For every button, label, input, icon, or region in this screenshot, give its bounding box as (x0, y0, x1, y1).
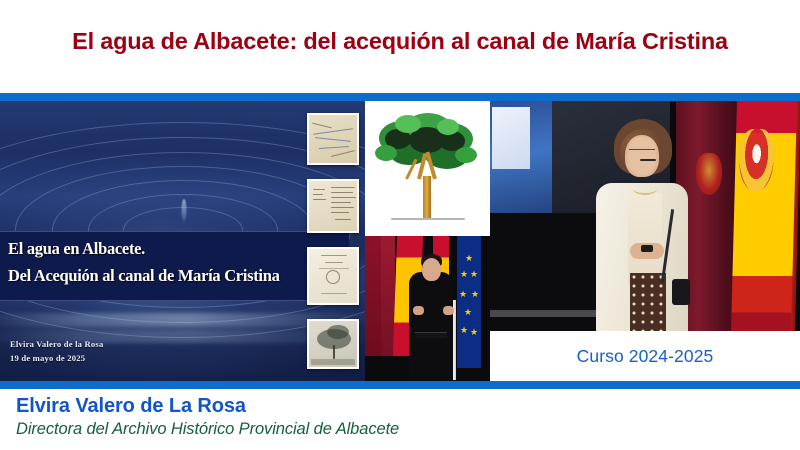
page-title: El agua de Albacete: del acequión al can… (0, 28, 800, 55)
speaker-role: Directora del Archivo Histórico Provinci… (16, 420, 399, 439)
interpreter-body (409, 272, 453, 381)
header: El agua de Albacete: del acequión al can… (0, 0, 800, 93)
presentation-clicker (641, 245, 653, 252)
glasses-icon (629, 149, 655, 155)
tree-illustration (365, 101, 490, 236)
sign-language-interpreter-photo: ★ ★ ★ ★ ★ ★ ★ ★ (365, 236, 490, 381)
projected-slide-image (492, 107, 530, 169)
interpreter-head (422, 258, 441, 281)
speaker-name: Elvira Valero de La Rosa (16, 395, 246, 418)
headset-microphone-icon (640, 159, 656, 161)
band-top-rule (0, 93, 800, 101)
historic-map-thumbnail (307, 113, 359, 165)
band-bottom-rule (0, 381, 800, 389)
slide-title-line-2: Del Acequión al canal de María Cristina (8, 266, 349, 286)
speaker-blouse (628, 193, 662, 285)
speaker-lecture-photo (490, 101, 800, 331)
interpreter-hand (413, 306, 424, 315)
slide-credit: Elvira Valero de la Rosa 19 de mayo de 2… (10, 338, 103, 365)
slide-title-line-1: El agua en Albacete. (8, 239, 349, 259)
interpreter-hand (443, 306, 454, 315)
olive-tree-photo-thumbnail (307, 319, 359, 369)
water-drop (182, 199, 187, 221)
footer: Elvira Valero de La Rosa Directora del A… (0, 389, 800, 450)
band-inner: El agua en Albacete. Del Acequión al can… (0, 101, 800, 381)
interpreter-belt (415, 332, 447, 338)
slide-title-box: El agua en Albacete. Del Acequión al can… (0, 231, 349, 301)
media-band: El agua en Albacete. Del Acequión al can… (0, 93, 800, 389)
speaker-necklace (633, 183, 657, 195)
manuscript-thumbnail (307, 179, 359, 233)
speaker-pouch (672, 279, 690, 305)
curso-label: Curso 2024-2025 (577, 346, 714, 367)
slide-thumbnail-column (303, 101, 359, 381)
regional-crest (696, 153, 722, 195)
slide-credit-author: Elvira Valero de la Rosa (10, 338, 103, 351)
slide-credit-date: 19 de mayo de 2025 (10, 352, 103, 365)
title-page-thumbnail (307, 247, 359, 305)
middle-column: ★ ★ ★ ★ ★ ★ ★ ★ (365, 101, 490, 381)
presentation-slide-image: El agua en Albacete. Del Acequión al can… (0, 101, 365, 381)
spain-flag (731, 101, 797, 331)
curso-spacer (490, 367, 800, 381)
projection-screen (490, 101, 552, 219)
speaker-face (628, 137, 656, 175)
eu-flag: ★ ★ ★ ★ ★ ★ ★ ★ (457, 236, 481, 368)
slide-page: El agua de Albacete: del acequión al can… (0, 0, 800, 450)
